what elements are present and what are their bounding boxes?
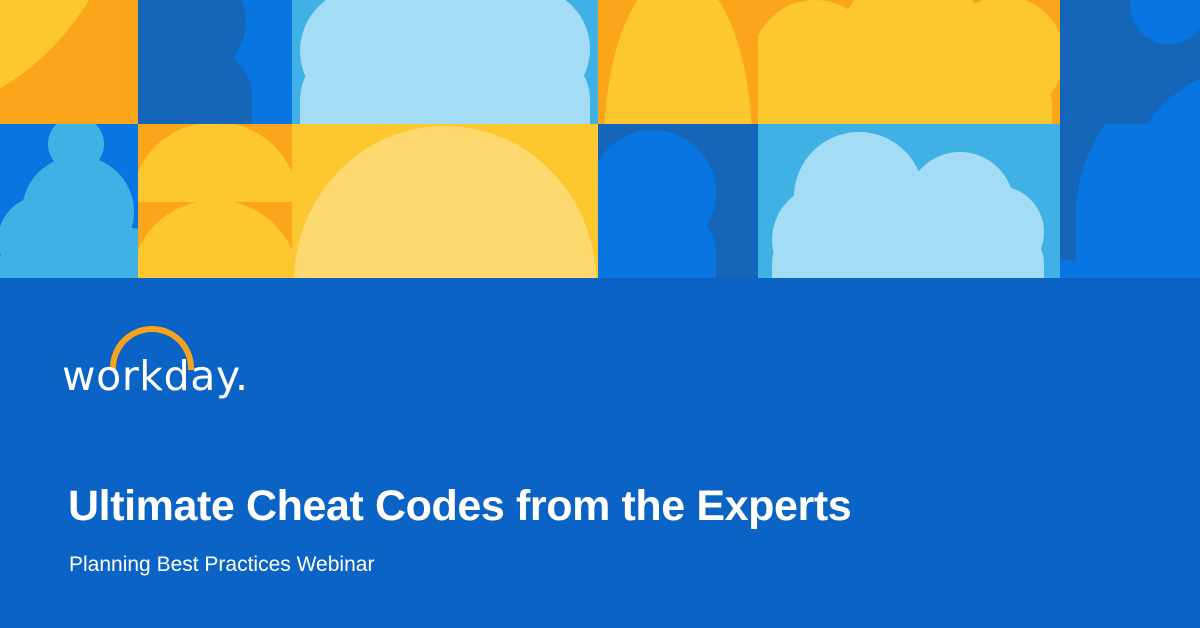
arc-shape-lower (138, 200, 292, 278)
banner-tile-10 (598, 124, 758, 278)
quarter-circle-shape (1076, 124, 1200, 214)
fill-block-bottom (1060, 260, 1200, 278)
slide-canvas: workday. Ultimate Cheat Codes from the E… (0, 0, 1200, 628)
banner-tile-7 (0, 124, 138, 278)
page-subtitle: Planning Best Practices Webinar (69, 551, 374, 579)
arc-shape-upper (138, 124, 292, 202)
decorative-banner (0, 0, 1200, 278)
banner-tile-11 (758, 124, 1060, 278)
circle-shape (1130, 0, 1200, 44)
page-title: Ultimate Cheat Codes from the Experts (68, 480, 851, 532)
quarter-circle-shape (0, 0, 128, 124)
banner-tile-4 (598, 0, 758, 124)
banner-tile-5 (758, 0, 1060, 124)
banner-tile-12 (1060, 124, 1200, 278)
banner-tile-2 (138, 0, 292, 124)
banner-tile-3 (292, 0, 598, 124)
cloud-shape (772, 132, 1044, 278)
quarter-circle-shape (1122, 64, 1200, 124)
banner-tile-1 (0, 0, 138, 124)
cloud-shape (300, 0, 590, 124)
cloud-shape (0, 158, 138, 278)
banner-tile-9 (292, 124, 598, 278)
arc-shape (604, 0, 752, 124)
cloud-shape (598, 134, 716, 278)
cloud-shape (758, 0, 1052, 124)
banner-tile-6 (1060, 0, 1200, 124)
workday-logo: workday. (62, 326, 242, 398)
logo-wordmark: workday. (62, 352, 242, 400)
semicircle-shape (294, 126, 596, 278)
cloud-shape (138, 0, 252, 124)
banner-tile-8 (138, 124, 292, 278)
